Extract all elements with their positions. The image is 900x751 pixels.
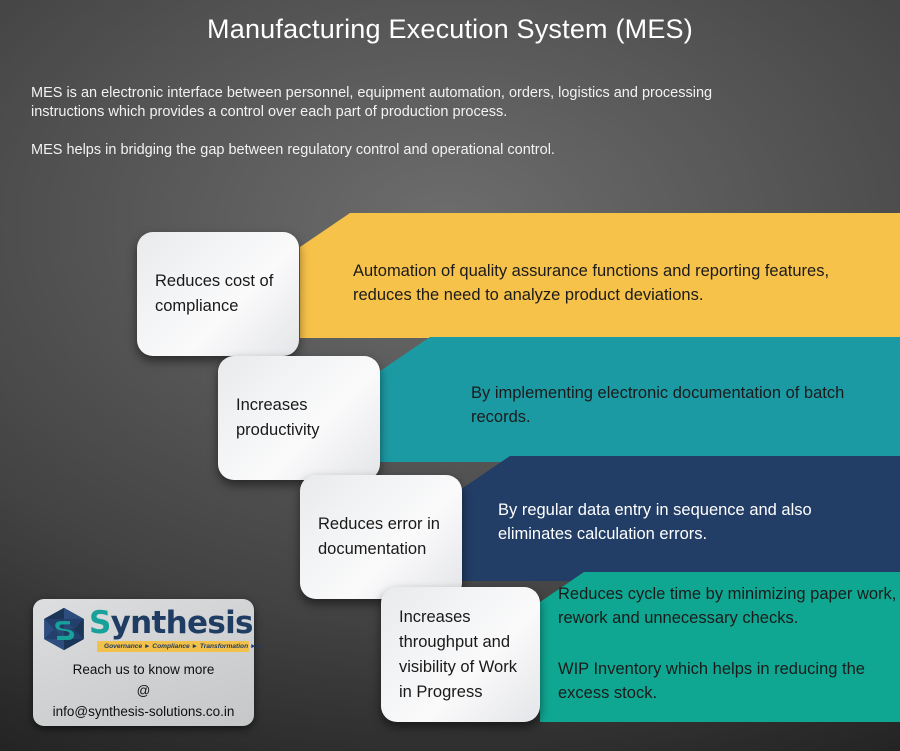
benefit-label-4: Increases throughput and visibility of W… — [381, 605, 540, 705]
benefit-description-4b: WIP Inventory which helps in reducing th… — [558, 657, 898, 705]
logo-tagline-bar: Governance ► Compliance ► Transformation… — [97, 641, 249, 652]
benefit-label-card-4[interactable]: Increases throughput and visibility of W… — [381, 587, 540, 722]
logo-wordmark: Synthesis Governance ► Compliance ► Tran… — [87, 606, 246, 652]
benefit-label-3: Reduces error in documentation — [300, 512, 462, 562]
benefit-label-card-3[interactable]: Reduces error in documentation — [300, 475, 462, 599]
contact-at-symbol: @ — [41, 680, 246, 701]
contact-prompt: Reach us to know more — [41, 659, 246, 680]
logo-row: Synthesis Governance ► Compliance ► Tran… — [41, 606, 246, 652]
contact-block: Reach us to know more @ info@synthesis-s… — [41, 659, 246, 722]
benefit-description-3: By regular data entry in sequence and al… — [498, 498, 883, 546]
intro-paragraph-2: MES helps in bridging the gap between re… — [31, 141, 771, 160]
benefit-description-2: By implementing electronic documentation… — [471, 381, 871, 429]
benefit-label-card-1[interactable]: Reduces cost of compliance — [137, 232, 299, 356]
benefit-label-1: Reduces cost of compliance — [137, 269, 299, 319]
benefit-label-2: Increases productivity — [218, 393, 380, 443]
logo-brand-name: Synthesis — [89, 605, 253, 642]
benefit-description-1: Automation of quality assurance function… — [353, 259, 888, 307]
synthesis-hexagon-logo-icon — [41, 606, 87, 652]
logo-tagline-text: Governance ► Compliance ► Transformation… — [104, 641, 263, 652]
intro-paragraph-1: MES is an electronic interface between p… — [31, 84, 771, 122]
benefit-description-4a: Reduces cycle time by minimizing paper w… — [558, 582, 898, 630]
logo-contact-box[interactable]: Synthesis Governance ► Compliance ► Tran… — [33, 599, 254, 726]
logo-brand-initial: S — [89, 605, 111, 641]
infographic-canvas: Manufacturing Execution System (MES) MES… — [0, 0, 900, 751]
benefit-label-card-2[interactable]: Increases productivity — [218, 356, 380, 480]
page-title: Manufacturing Execution System (MES) — [0, 14, 900, 45]
logo-brand-rest: ynthesis — [111, 605, 253, 641]
contact-email[interactable]: info@synthesis-solutions.co.in — [41, 701, 246, 722]
